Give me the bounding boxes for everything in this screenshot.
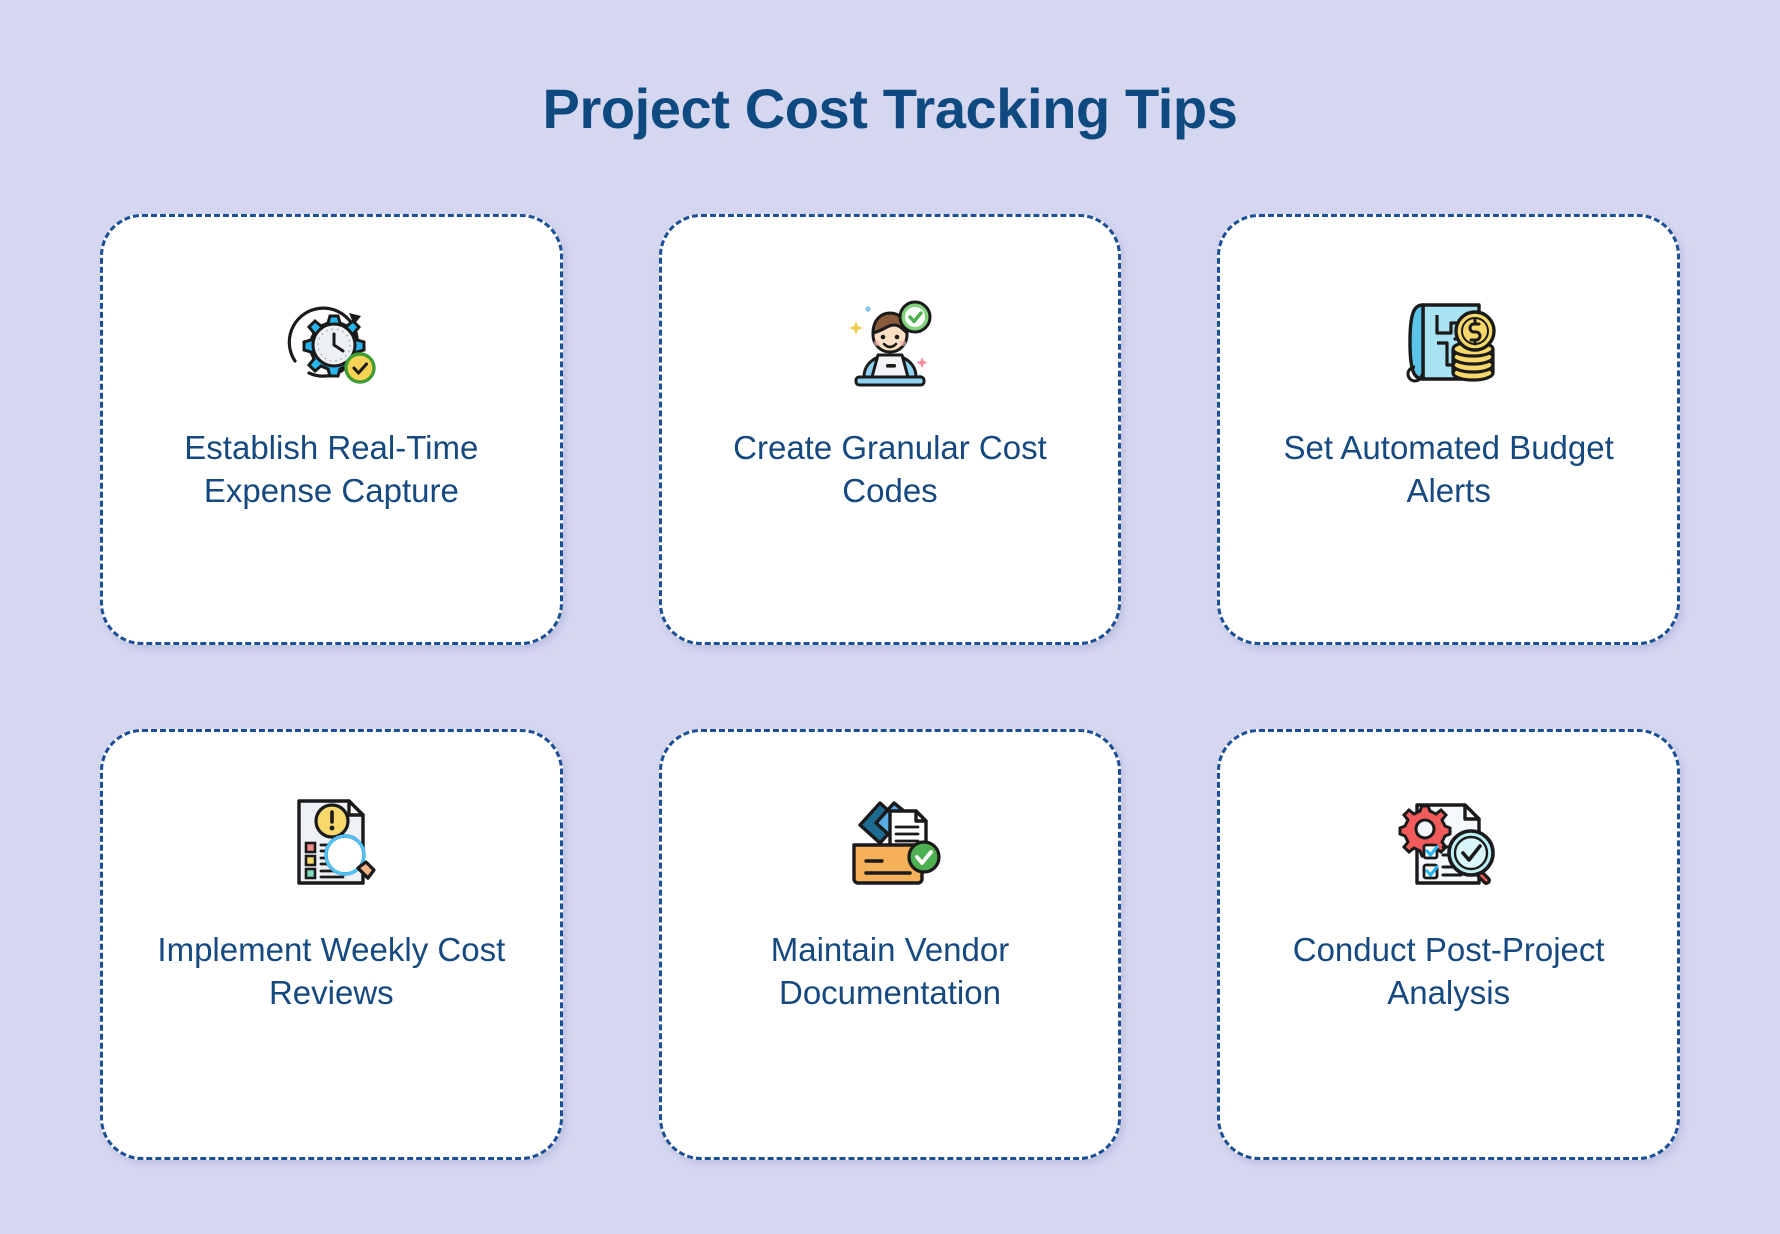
document-alert-magnifier-icon <box>272 788 390 896</box>
tip-card-title: Create Granular Cost Codes <box>700 426 1080 513</box>
page-title: Project Cost Tracking Tips <box>543 78 1238 140</box>
tip-card-title: Set Automated Budget Alerts <box>1259 426 1639 513</box>
tip-card-create-granular-cost-codes[interactable]: Create Granular Cost Codes <box>659 214 1122 645</box>
infographic-page: Project Cost Tracking Tips Establish Rea… <box>0 0 1780 1234</box>
tips-grid: Establish Real-Time Expense Capture <box>100 214 1680 1160</box>
person-laptop-check-icon <box>831 288 949 396</box>
gear-clock-check-icon <box>272 288 390 396</box>
tip-card-title: Maintain Vendor Documentation <box>700 928 1080 1015</box>
folder-documents-check-icon <box>831 788 949 896</box>
blueprint-coins-icon <box>1390 288 1508 396</box>
tip-card-title: Implement Weekly Cost Reviews <box>141 928 521 1015</box>
tip-card-set-automated-budget-alerts[interactable]: Set Automated Budget Alerts <box>1217 214 1680 645</box>
tip-card-establish-real-time-expense-capture[interactable]: Establish Real-Time Expense Capture <box>100 214 563 645</box>
tip-card-conduct-post-project-analysis[interactable]: Conduct Post-Project Analysis <box>1217 729 1680 1160</box>
tip-card-title: Establish Real-Time Expense Capture <box>141 426 521 513</box>
checklist-gear-magnifier-icon <box>1390 788 1508 896</box>
tip-card-maintain-vendor-documentation[interactable]: Maintain Vendor Documentation <box>659 729 1122 1160</box>
tip-card-implement-weekly-cost-reviews[interactable]: Implement Weekly Cost Reviews <box>100 729 563 1160</box>
tip-card-title: Conduct Post-Project Analysis <box>1259 928 1639 1015</box>
